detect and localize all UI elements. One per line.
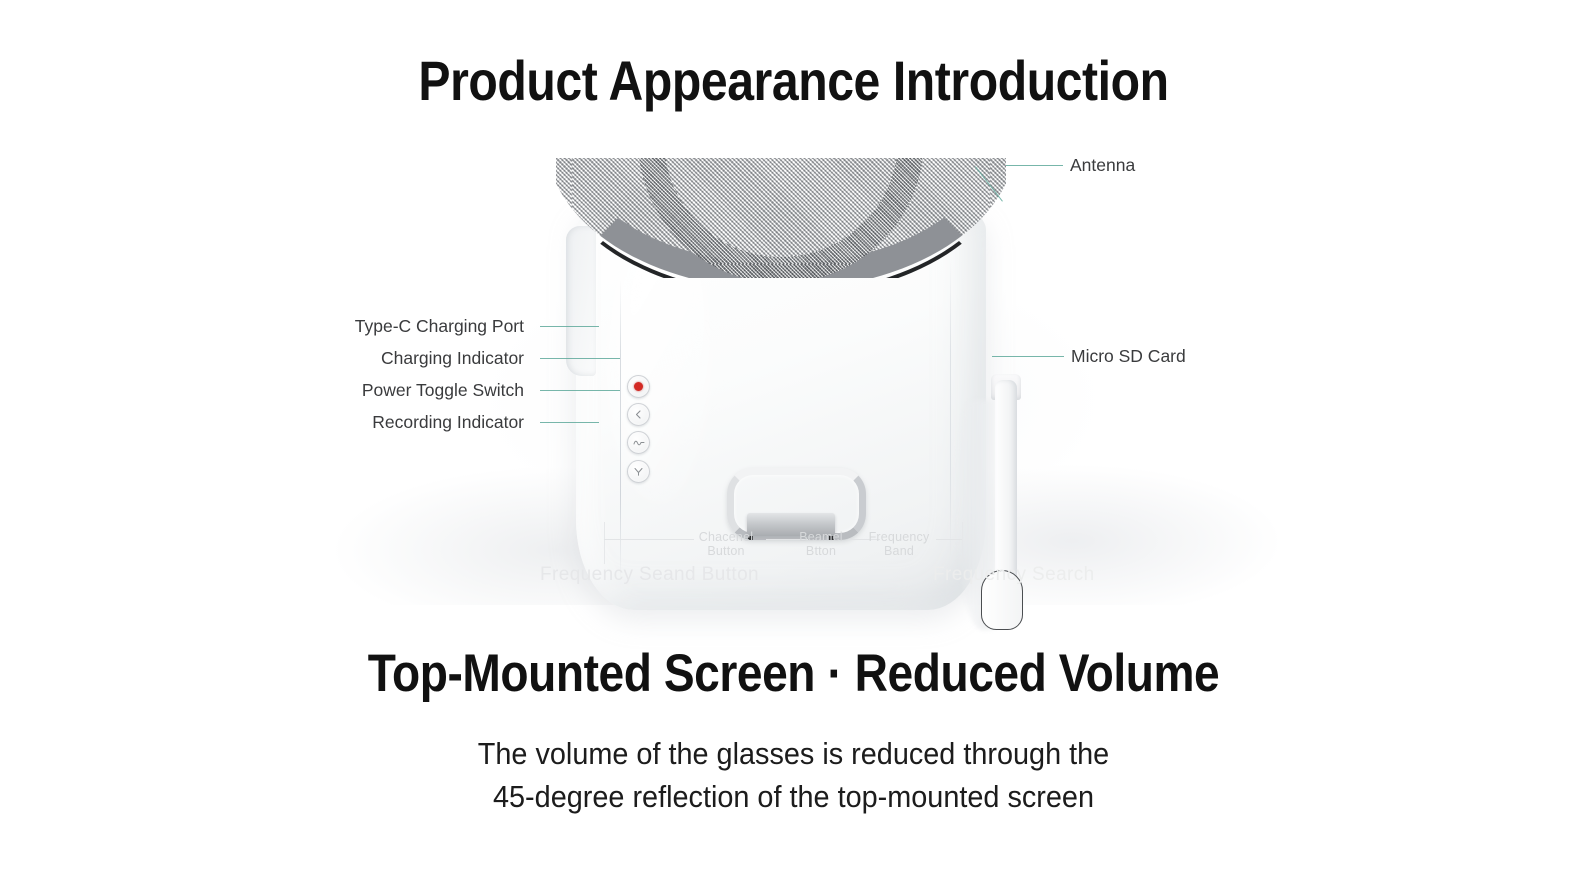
callout-label-antenna: Antenna [1070, 154, 1135, 176]
recording-indicator-button[interactable] [627, 375, 650, 398]
callout-label-micro-sd-card: Micro SD Card [1071, 345, 1186, 367]
product-introduction-page: Product Appearance Introduction [0, 0, 1587, 893]
ghost-label-frequency-seand-button: Frequency Seand Button [540, 563, 759, 587]
product-illustration: Antenna Micro SD Card Type-C Charging Po… [0, 130, 1587, 610]
ghost-leader-1 [604, 539, 694, 540]
channel-button[interactable] [627, 403, 650, 426]
section-title: Top-Mounted Screen · Reduced Volume [103, 640, 1484, 708]
chevron-left-icon [632, 408, 645, 421]
power-toggle-leader-line [540, 390, 620, 391]
antenna-icon [632, 465, 645, 478]
subtitle-line-2: 45-degree reflection of the top-mounted … [56, 775, 1532, 818]
micro-sd-leader-line [992, 356, 1064, 357]
callout-label-charging-indicator: Charging Indicator [244, 347, 524, 369]
wave-icon [632, 436, 646, 449]
subtitle-line-1: The volume of the glasses is reduced thr… [56, 732, 1532, 775]
record-dot-icon [634, 382, 643, 391]
ghost-label-frequency-search: Frequency Search [933, 563, 1095, 587]
callout-label-power-toggle-switch: Power Toggle Switch [244, 379, 524, 401]
antenna-button[interactable] [627, 460, 650, 483]
mesh-headband [556, 158, 1006, 278]
ghost-vertical-tick-right [962, 522, 963, 562]
ghost-label-beamel-button: Beamel Btton [790, 530, 852, 558]
headband-dark-edge [556, 158, 1006, 278]
ghost-label-channel-button: Chacenel Button [690, 530, 762, 558]
next-section-preview [0, 840, 1587, 893]
section-subtitle: The volume of the glasses is reduced thr… [56, 732, 1532, 818]
body-seam-left [620, 280, 621, 580]
page-title: Product Appearance Introduction [111, 46, 1476, 116]
ghost-label-frequency-band: Frequency Band [864, 530, 934, 558]
ghost-leader-4 [936, 539, 962, 540]
callout-label-type-c-charging-port: Type-C Charging Port [244, 315, 524, 337]
antenna-leader-line [1006, 165, 1063, 166]
charging-indicator-leader-line [540, 358, 620, 359]
scan-button[interactable] [627, 431, 650, 454]
type-c-leader-line [540, 326, 599, 327]
ghost-vertical-tick-left [604, 522, 605, 564]
body-seam-right [950, 260, 951, 560]
callout-label-recording-indicator: Recording Indicator [244, 411, 524, 433]
recording-indicator-leader-line [540, 422, 599, 423]
